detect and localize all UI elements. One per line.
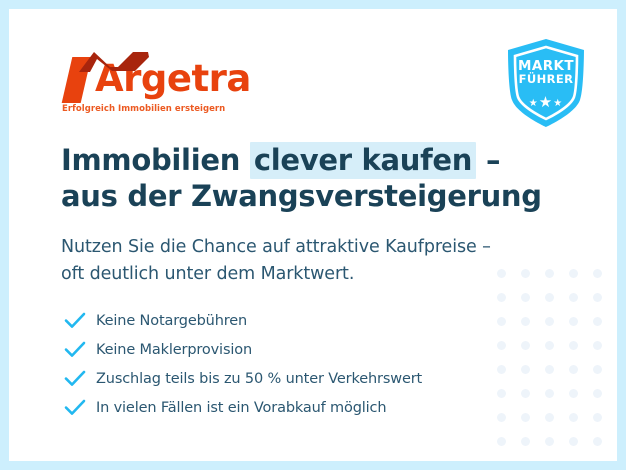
dot-decoration <box>585 405 609 429</box>
dot <box>497 341 506 350</box>
dot <box>497 413 506 422</box>
dot-decoration <box>561 285 585 309</box>
page-title: Immobilien clever kaufen – aus der Zwang… <box>61 142 542 215</box>
dot <box>545 293 554 302</box>
dot-decoration <box>513 381 537 405</box>
benefit-label: Keine Maklerprovision <box>96 342 252 358</box>
dot-decoration <box>489 309 513 333</box>
checkmark-icon <box>64 370 88 388</box>
dot-decoration <box>537 261 561 285</box>
dot-decoration <box>513 429 537 453</box>
dot-decoration <box>489 333 513 357</box>
dot <box>569 389 578 398</box>
dot <box>545 413 554 422</box>
dot <box>521 341 530 350</box>
dot-decoration <box>585 429 609 453</box>
dot <box>521 413 530 422</box>
dot-decoration <box>489 285 513 309</box>
dot <box>521 269 530 278</box>
dot <box>593 317 602 326</box>
dot-decoration <box>561 429 585 453</box>
checkmark-icon <box>64 341 88 359</box>
list-item: Zuschlag teils bis zu 50 % unter Verkehr… <box>64 364 422 393</box>
subheading: Nutzen Sie die Chance auf attraktive Kau… <box>61 234 491 287</box>
dot-decoration <box>537 333 561 357</box>
dot-decoration <box>537 405 561 429</box>
dot <box>593 389 602 398</box>
dot-decoration <box>561 381 585 405</box>
list-item: In vielen Fällen ist ein Vorabkauf mögli… <box>64 393 422 422</box>
dot-decoration <box>537 309 561 333</box>
dot-decoration <box>561 333 585 357</box>
dot <box>545 437 554 446</box>
dot-decoration <box>585 333 609 357</box>
dot <box>593 437 602 446</box>
logo-roof-icon <box>77 51 151 73</box>
dot-grid-decoration <box>489 261 609 453</box>
dot <box>497 389 506 398</box>
dot-decoration <box>513 357 537 381</box>
dot <box>569 293 578 302</box>
dot-decoration <box>489 261 513 285</box>
dot-decoration <box>513 261 537 285</box>
logo-mark-row: Argetra <box>61 51 251 103</box>
dot-decoration <box>585 309 609 333</box>
dot <box>569 269 578 278</box>
dot <box>545 269 554 278</box>
dot <box>521 317 530 326</box>
benefit-label: Zuschlag teils bis zu 50 % unter Verkehr… <box>96 371 422 387</box>
dot-decoration <box>537 285 561 309</box>
dot <box>545 389 554 398</box>
list-item: Keine Maklerprovision <box>64 335 422 364</box>
dot-decoration <box>513 309 537 333</box>
dot <box>569 341 578 350</box>
dot-decoration <box>561 261 585 285</box>
dot <box>521 293 530 302</box>
dot-decoration <box>585 285 609 309</box>
dot <box>569 413 578 422</box>
dot-decoration <box>585 381 609 405</box>
benefit-label: In vielen Fällen ist ein Vorabkauf mögli… <box>96 400 386 416</box>
dot <box>593 293 602 302</box>
promo-card-frame: Argetra Erfolgreich Immobilien ersteiger… <box>0 0 626 470</box>
dot-decoration <box>489 405 513 429</box>
dot-decoration <box>537 429 561 453</box>
promo-card: Argetra Erfolgreich Immobilien ersteiger… <box>9 9 617 461</box>
checkmark-icon <box>64 399 88 417</box>
dot-decoration <box>513 333 537 357</box>
dot-decoration <box>561 405 585 429</box>
dot <box>545 341 554 350</box>
headline-highlight: clever kaufen <box>250 142 476 179</box>
dot-decoration <box>537 381 561 405</box>
dot-decoration <box>561 309 585 333</box>
dot-decoration <box>585 357 609 381</box>
dot <box>497 365 506 374</box>
dot <box>521 389 530 398</box>
dot <box>593 269 602 278</box>
checkmark-icon <box>64 312 88 330</box>
headline-prefix: Immobilien <box>61 143 250 177</box>
dot <box>545 365 554 374</box>
dot <box>497 269 506 278</box>
benefits-list: Keine NotargebührenKeine Maklerprovision… <box>64 306 422 422</box>
shield-badge-icon <box>504 37 588 129</box>
dot-decoration <box>489 429 513 453</box>
dot <box>593 341 602 350</box>
headline-suffix: – <box>476 143 500 177</box>
dot-decoration <box>489 381 513 405</box>
dot <box>545 317 554 326</box>
headline-line-1: Immobilien clever kaufen – <box>61 142 542 178</box>
logo-tagline: Erfolgreich Immobilien ersteigern <box>62 104 251 114</box>
subheading-line-1: Nutzen Sie die Chance auf attraktive Kau… <box>61 234 491 261</box>
dot-decoration <box>585 261 609 285</box>
dot <box>497 317 506 326</box>
dot <box>521 437 530 446</box>
dot-decoration <box>513 405 537 429</box>
headline-line-2: aus der Zwangsversteigerung <box>61 178 542 214</box>
dot <box>497 437 506 446</box>
argetra-logo[interactable]: Argetra Erfolgreich Immobilien ersteiger… <box>61 51 251 114</box>
dot-decoration <box>513 285 537 309</box>
dot <box>569 437 578 446</box>
list-item: Keine Notargebühren <box>64 306 422 335</box>
dot <box>497 293 506 302</box>
dot <box>593 413 602 422</box>
dot-decoration <box>489 357 513 381</box>
dot <box>593 365 602 374</box>
dot <box>569 317 578 326</box>
benefit-label: Keine Notargebühren <box>96 313 247 329</box>
subheading-line-2: oft deutlich unter dem Marktwert. <box>61 261 491 288</box>
dot-decoration <box>537 357 561 381</box>
dot <box>569 365 578 374</box>
dot <box>521 365 530 374</box>
dot-decoration <box>561 357 585 381</box>
market-leader-badge: MARKT FÜHRER ★★★ <box>504 37 588 129</box>
